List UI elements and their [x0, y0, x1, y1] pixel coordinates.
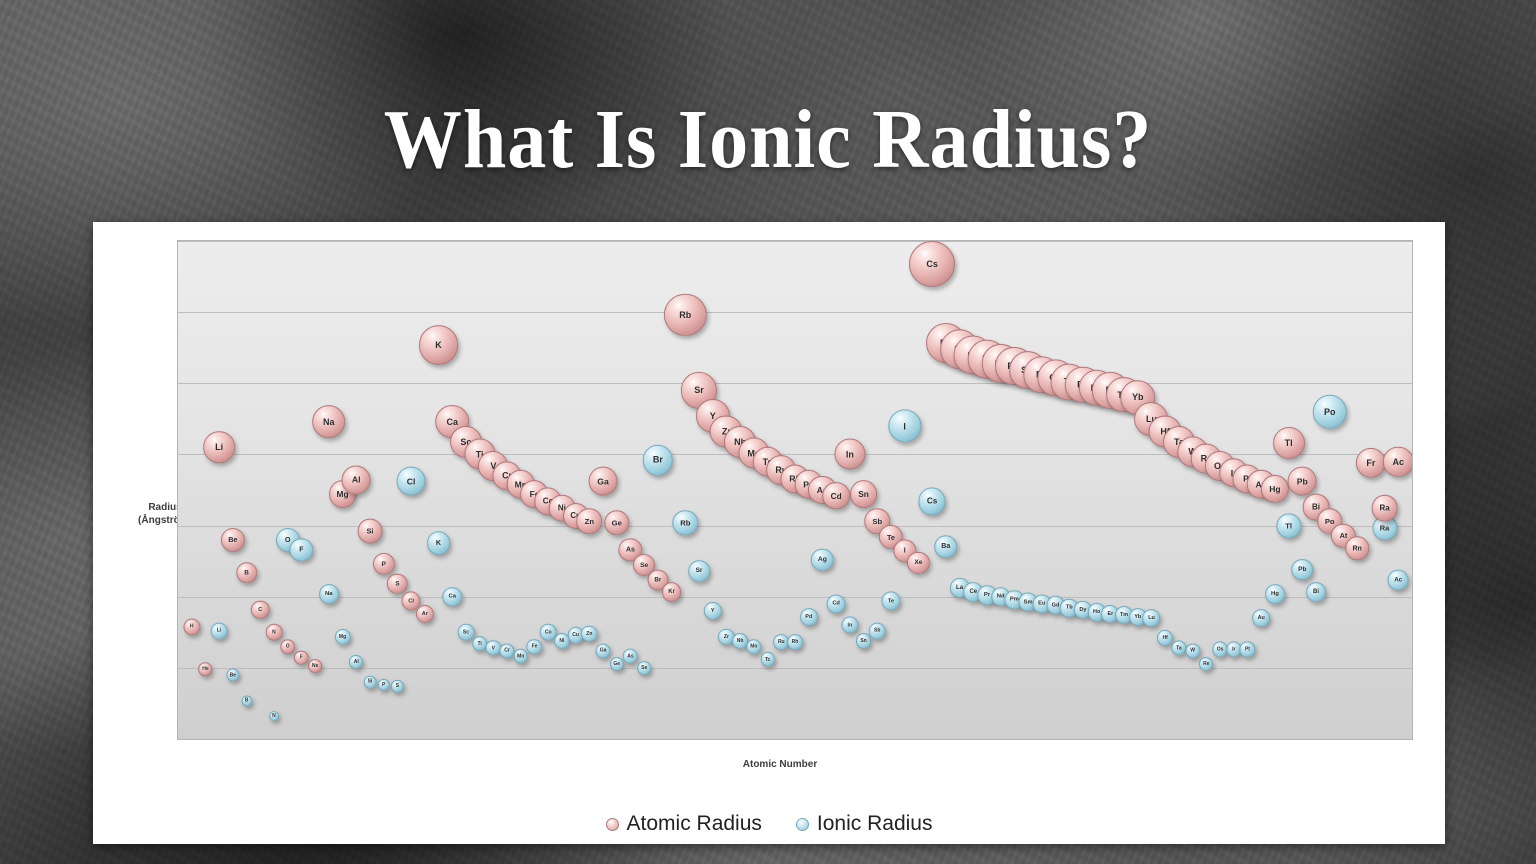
data-point-label: Lu: [1148, 615, 1155, 621]
data-point-label: Mg: [339, 634, 346, 640]
data-point-ionic-y[interactable]: Y: [704, 602, 722, 620]
data-point-label: Tc: [765, 656, 770, 662]
data-point-label: Bi: [1313, 589, 1319, 595]
data-point-atomic-o[interactable]: O: [280, 639, 295, 654]
data-point-label: I: [904, 548, 906, 555]
data-point-atomic-hg[interactable]: Hg: [1261, 474, 1289, 502]
data-point-label: Cu: [572, 632, 579, 638]
data-point-ionic-bi[interactable]: Bi: [1306, 583, 1326, 603]
data-point-label: S: [395, 580, 399, 587]
data-point-label: Os: [1217, 646, 1224, 652]
data-point-label: Dy: [1079, 607, 1086, 613]
data-point-atomic-ne[interactable]: Ne: [308, 659, 322, 673]
data-point-ionic-au[interactable]: Au: [1252, 609, 1270, 627]
data-point-ionic-fe[interactable]: Fe: [527, 639, 542, 654]
data-point-ionic-cs[interactable]: Cs: [919, 488, 946, 515]
data-point-label: Pm: [1010, 597, 1019, 603]
data-point-atomic-pb[interactable]: Pb: [1288, 467, 1317, 496]
data-point-label: Sb: [872, 517, 882, 526]
legend-item-ionic-radius[interactable]: Ionic Radius: [796, 812, 933, 836]
data-point-label: Xe: [914, 559, 922, 566]
gridline: [178, 383, 1412, 384]
gridline: [178, 312, 1412, 313]
data-point-label: Cr: [504, 648, 510, 654]
data-point-label: Eu: [1038, 601, 1045, 607]
chart-figure: Radius (Ångström) 00.511.522.533.5010203…: [135, 232, 1425, 792]
data-point-atomic-ac[interactable]: Ac: [1383, 446, 1413, 476]
data-point-label: Li: [217, 628, 221, 634]
data-point-label: Ho: [1093, 609, 1100, 615]
data-point-ionic-ga[interactable]: Ga: [595, 643, 610, 658]
data-point-label: Zn: [585, 517, 594, 526]
data-point-atomic-tl[interactable]: Tl: [1273, 427, 1305, 459]
data-point-ionic-ac[interactable]: Ac: [1388, 569, 1409, 590]
data-point-label: Ru: [778, 639, 785, 645]
data-point-ionic-po[interactable]: Po: [1313, 395, 1347, 429]
data-point-label: P: [382, 682, 385, 688]
data-point-ionic-lu[interactable]: Lu: [1143, 609, 1161, 627]
data-point-label: Ca: [448, 594, 455, 600]
data-point-label: Yb: [1134, 614, 1141, 620]
legend-marker-ionic-icon: [796, 818, 809, 831]
data-point-label: K: [435, 340, 442, 350]
data-point-label: Cd: [832, 601, 840, 607]
data-point-ionic-cd[interactable]: Cd: [827, 594, 846, 613]
data-point-label: Kr: [668, 589, 675, 595]
data-point-label: V: [492, 645, 495, 651]
data-point-ionic-tc[interactable]: Tc: [760, 652, 774, 666]
data-point-label: Cl: [407, 476, 416, 486]
data-point-label: Ac: [1394, 576, 1402, 583]
data-point-label: Cd: [831, 491, 842, 501]
data-point-label: Sr: [694, 385, 704, 395]
data-point-label: Fr: [1366, 458, 1375, 468]
data-point-label: Rn: [1352, 545, 1361, 552]
data-point-atomic-k[interactable]: K: [419, 325, 459, 365]
data-point-label: Co: [545, 629, 552, 635]
data-point-label: Br: [654, 576, 661, 583]
data-point-label: At: [1340, 531, 1348, 540]
data-point-atomic-be[interactable]: Be: [221, 528, 245, 552]
data-point-label: Bi: [1312, 503, 1320, 512]
data-point-label: Se: [641, 665, 647, 671]
data-point-ionic-as[interactable]: As: [623, 649, 638, 664]
data-point-label: Ge: [613, 661, 620, 667]
data-point-ionic-sr[interactable]: Sr: [688, 560, 710, 582]
data-point-ionic-w[interactable]: W: [1185, 643, 1200, 658]
data-point-label: Ce: [969, 589, 977, 595]
data-point-label: Al: [354, 659, 359, 665]
data-point-label: Se: [640, 562, 648, 569]
data-point-ionic-i[interactable]: I: [888, 409, 921, 442]
data-point-label: Pb: [1297, 476, 1308, 486]
data-point-label: Sn: [860, 638, 866, 644]
data-point-atomic-ge[interactable]: Ge: [604, 510, 629, 535]
data-point-label: Cl: [408, 598, 414, 604]
data-point-ionic-si[interactable]: Si: [364, 676, 377, 689]
data-point-label: In: [846, 449, 854, 459]
data-point-ionic-pb[interactable]: Pb: [1291, 559, 1313, 581]
data-point-label: Fe: [532, 644, 538, 650]
data-point-ionic-li[interactable]: Li: [211, 622, 228, 639]
data-point-ionic-p[interactable]: P: [377, 679, 389, 691]
data-point-label: W: [1190, 648, 1195, 654]
data-point-atomic-s[interactable]: S: [387, 574, 408, 595]
data-point-atomic-b[interactable]: B: [236, 562, 257, 583]
data-point-label: Yb: [1132, 393, 1144, 403]
data-point-ionic-rh[interactable]: Rh: [787, 634, 803, 650]
data-point-atomic-n[interactable]: N: [266, 624, 283, 641]
data-point-label: Si: [368, 679, 373, 685]
data-point-label: Ra: [1379, 504, 1389, 513]
data-point-ionic-pd[interactable]: Pd: [800, 608, 818, 626]
data-point-label: Sm: [1024, 599, 1033, 605]
data-point-ionic-pt[interactable]: Pt: [1240, 642, 1255, 657]
legend-item-atomic-radius[interactable]: Atomic Radius: [606, 812, 762, 836]
data-point-label: Ne: [312, 663, 318, 669]
data-point-label: Ag: [818, 556, 827, 563]
data-point-atomic-cs[interactable]: Cs: [909, 241, 955, 287]
data-point-label: Zr: [724, 634, 729, 640]
data-point-label: Na: [323, 417, 335, 427]
data-point-label: Ga: [600, 648, 607, 654]
data-point-atomic-in[interactable]: In: [834, 439, 865, 470]
data-point-atomic-ga[interactable]: Ga: [589, 467, 618, 496]
data-point-label: Ba: [941, 543, 950, 550]
data-point-label: O: [286, 644, 290, 650]
data-point-ionic-f[interactable]: F: [290, 538, 313, 561]
data-point-label: Hg: [1271, 591, 1279, 597]
gridline: [178, 597, 1412, 598]
data-point-ionic-mg[interactable]: Mg: [334, 628, 350, 644]
data-point-atomic-li[interactable]: Li: [203, 432, 235, 464]
data-point-label: Ge: [612, 518, 622, 527]
data-point-atomic-kr[interactable]: Kr: [662, 583, 682, 603]
data-point-label: Y: [711, 608, 715, 614]
data-point-ionic-mn[interactable]: Mn: [513, 649, 528, 664]
data-point-label: Mn: [517, 653, 524, 659]
data-point-label: La: [956, 585, 963, 591]
page-title: What Is Ionic Radius?: [54, 98, 1482, 182]
data-point-label: Ta: [1176, 645, 1181, 651]
data-point-atomic-cd[interactable]: Cd: [822, 482, 850, 510]
data-point-label: Te: [888, 598, 894, 604]
data-point-label: Ra: [1380, 524, 1390, 533]
data-point-label: K: [436, 539, 441, 547]
data-point-atomic-sn[interactable]: Sn: [850, 480, 878, 508]
data-point-label: Rb: [680, 518, 690, 527]
data-point-ionic-s[interactable]: S: [391, 680, 403, 692]
data-point-ionic-mo[interactable]: Mo: [746, 639, 761, 654]
data-point-ionic-k[interactable]: K: [427, 531, 451, 555]
data-point-label: Rb: [679, 310, 691, 320]
data-point-label: N: [272, 629, 276, 635]
data-point-atomic-ar[interactable]: Ar: [416, 605, 434, 623]
data-point-ionic-sc[interactable]: Sc: [458, 624, 475, 641]
data-point-label: Ac: [1393, 457, 1405, 467]
data-point-atomic-xe[interactable]: Xe: [907, 551, 929, 573]
data-point-ionic-hg[interactable]: Hg: [1265, 584, 1285, 604]
data-point-label: As: [626, 546, 635, 553]
data-point-label: Al: [352, 475, 361, 485]
data-point-ionic-ca[interactable]: Ca: [442, 587, 462, 607]
data-point-label: Cs: [927, 497, 937, 506]
data-point-ionic-cl[interactable]: Cl: [397, 467, 426, 496]
data-point-label: Tl: [1285, 438, 1293, 448]
data-point-atomic-zn[interactable]: Zn: [577, 509, 603, 535]
data-point-label: Tb: [1066, 605, 1073, 611]
data-point-label: Be: [228, 535, 237, 544]
data-point-label: Ar: [422, 611, 428, 617]
data-point-label: C: [258, 607, 262, 613]
data-point-label: O: [285, 535, 291, 544]
data-point-label: Pt: [1245, 646, 1250, 652]
data-point-ionic-te[interactable]: Te: [881, 591, 900, 610]
data-point-label: Nb: [737, 638, 744, 644]
data-point-ionic-na[interactable]: Na: [319, 584, 339, 604]
data-point-ionic-rb[interactable]: Rb: [673, 510, 698, 535]
data-point-label: Nd: [997, 594, 1005, 600]
data-point-atomic-rb[interactable]: Rb: [664, 294, 706, 336]
data-point-atomic-f[interactable]: F: [294, 651, 309, 666]
data-point-label: Zn: [586, 631, 592, 637]
data-point-label: I: [903, 421, 906, 431]
data-point-label: F: [299, 546, 303, 553]
data-point-ionic-ba[interactable]: Ba: [934, 535, 958, 559]
data-point-label: Hg: [1269, 484, 1280, 494]
data-point-label: Sb: [874, 628, 880, 634]
data-point-label: F: [300, 655, 303, 661]
data-point-label: Li: [215, 442, 223, 452]
data-point-label: N: [272, 713, 276, 719]
data-point-label: Ni: [559, 638, 564, 644]
data-point-label: Mo: [750, 644, 757, 650]
data-point-ionic-br[interactable]: Br: [643, 445, 674, 476]
data-point-label: Po: [1324, 407, 1336, 417]
gridline: [178, 241, 1412, 242]
data-point-label: In: [848, 622, 853, 628]
gridline: [178, 739, 1412, 740]
data-point-atomic-p[interactable]: P: [373, 553, 395, 575]
data-point-label: Pd: [805, 614, 812, 620]
legend-label-ionic: Ionic Radius: [817, 812, 933, 836]
data-point-label: Si: [366, 527, 373, 536]
data-point-atomic-na[interactable]: Na: [312, 405, 346, 439]
data-point-label: Hf: [1163, 635, 1168, 641]
data-point-label: Pb: [1298, 566, 1306, 573]
data-point-label: Na: [325, 591, 333, 597]
data-point-label: P: [381, 560, 385, 567]
data-point-ionic-se[interactable]: Se: [637, 661, 651, 675]
data-point-label: Sc: [463, 629, 469, 635]
data-point-label: Ir: [1232, 646, 1235, 652]
data-point-label: He: [202, 666, 208, 672]
data-point-ionic-cr[interactable]: Cr: [500, 643, 515, 658]
data-point-atomic-c[interactable]: C: [251, 600, 269, 618]
data-point-label: Br: [653, 455, 663, 465]
data-point-label: Ca: [446, 417, 458, 427]
chart-legend: Atomic Radius Ionic Radius: [93, 812, 1445, 836]
data-point-atomic-al[interactable]: Al: [342, 466, 371, 495]
data-point-label: B: [244, 569, 249, 576]
data-point-label: Rh: [792, 639, 799, 645]
data-point-label: Be: [230, 672, 236, 678]
data-point-atomic-ra[interactable]: Ra: [1371, 495, 1398, 522]
data-point-label: Au: [1258, 615, 1265, 621]
data-point-label: Ga: [597, 476, 609, 486]
data-point-ionic-n[interactable]: N: [269, 711, 279, 721]
data-point-label: Sn: [858, 489, 869, 499]
plot-area: 00.511.522.533.50102030405060708090LiBeB…: [177, 240, 1413, 740]
data-point-ionic-zn[interactable]: Zn: [581, 625, 598, 642]
data-point-label: Sr: [696, 568, 703, 575]
legend-label-atomic: Atomic Radius: [627, 812, 762, 836]
legend-marker-atomic-icon: [606, 818, 619, 831]
data-point-ionic-sb[interactable]: Sb: [869, 622, 886, 639]
data-point-label: Po: [1325, 517, 1335, 526]
data-point-atomic-h[interactable]: H: [183, 618, 200, 635]
data-point-ionic-in[interactable]: In: [841, 617, 858, 634]
data-point-label: Gd: [1052, 602, 1060, 608]
data-point-label: H: [190, 624, 194, 630]
data-point-label: B: [245, 698, 249, 704]
data-point-atomic-rn[interactable]: Rn: [1345, 537, 1368, 560]
data-point-ionic-hf[interactable]: Hf: [1157, 630, 1173, 646]
data-point-label: Pr: [984, 592, 990, 598]
data-point-label: S: [396, 683, 399, 689]
chart-card: Radius (Ångström) 00.511.522.533.5010203…: [93, 222, 1445, 844]
data-point-atomic-fr[interactable]: Fr: [1356, 448, 1386, 478]
data-point-label: Re: [1203, 661, 1209, 667]
data-point-ionic-tl[interactable]: Tl: [1276, 513, 1301, 538]
data-point-ionic-be[interactable]: Be: [226, 668, 239, 681]
data-point-atomic-he[interactable]: He: [199, 662, 213, 676]
data-point-label: Ti: [477, 641, 481, 647]
x-axis-label: Atomic Number: [135, 759, 1425, 770]
data-point-label: Te: [887, 532, 895, 541]
data-point-label: Er: [1107, 611, 1113, 617]
data-point-label: Tm: [1120, 612, 1128, 618]
data-point-atomic-si[interactable]: Si: [358, 519, 383, 544]
data-point-label: Cs: [926, 259, 938, 269]
data-point-ionic-ag[interactable]: Ag: [811, 548, 833, 570]
data-point-label: As: [627, 653, 633, 659]
data-point-ionic-b[interactable]: B: [241, 695, 252, 706]
data-point-label: Tl: [1285, 521, 1292, 530]
gridline: [178, 668, 1412, 669]
